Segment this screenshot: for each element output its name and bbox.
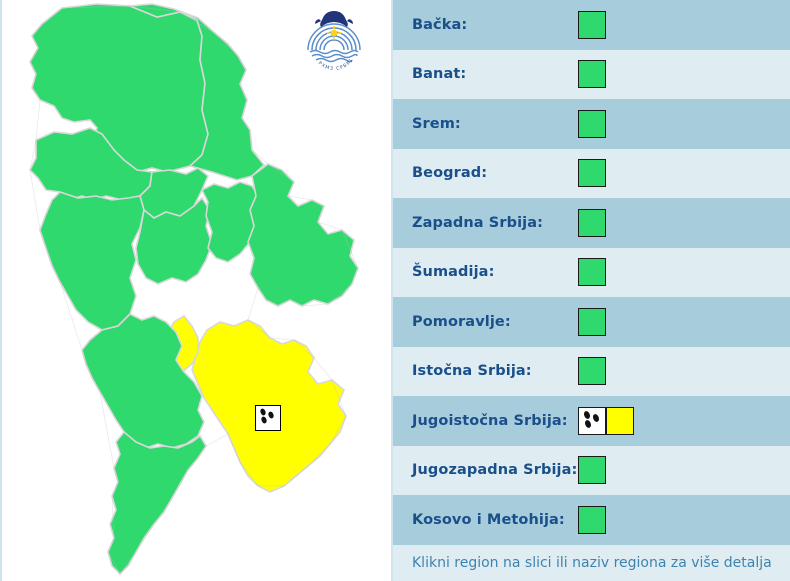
legend-row-sumadija[interactable]: Šumadija: xyxy=(393,248,790,298)
legend-label: Banat: xyxy=(412,66,578,82)
rhmz-logo-icon: РХМЗ СРБИЈЕ xyxy=(302,4,366,70)
serbia-region-map[interactable] xyxy=(2,0,391,581)
legend-swatches xyxy=(578,60,606,88)
legend-row-jugoistocna-srbija[interactable]: Jugoistočna Srbija: xyxy=(393,396,790,446)
map-region-zapadna-srbija[interactable] xyxy=(40,192,144,330)
map-panel: РХМЗ СРБИЈЕ xyxy=(0,0,393,581)
legend-label: Pomoravlje: xyxy=(412,314,578,330)
legend-row-srem[interactable]: Srem: xyxy=(393,99,790,149)
legend-row-kosovo-i-metohija[interactable]: Kosovo i Metohija: xyxy=(393,495,790,545)
legend-row-zapadna-srbija[interactable]: Zapadna Srbija: xyxy=(393,198,790,248)
legend-swatches xyxy=(578,506,606,534)
legend-row-beograd[interactable]: Beograd: xyxy=(393,149,790,199)
legend-swatches xyxy=(578,407,634,435)
legend-label: Istočna Srbija: xyxy=(412,363,578,379)
legend-row-istocna-srbija[interactable]: Istočna Srbija: xyxy=(393,347,790,397)
legend-swatches xyxy=(578,11,606,39)
legend-swatches xyxy=(578,110,606,138)
legend-panel: Bačka: Banat: Srem: Beograd: Zapadna Srb xyxy=(393,0,790,581)
status-swatch-green xyxy=(578,506,606,534)
legend-swatches xyxy=(578,308,606,336)
status-swatch-green xyxy=(578,258,606,286)
rain-icon xyxy=(579,408,604,433)
status-swatch-green xyxy=(578,456,606,484)
legend-row-backa[interactable]: Bačka: xyxy=(393,0,790,50)
legend-label: Jugoistočna Srbija: xyxy=(412,413,578,429)
legend-swatches xyxy=(578,357,606,385)
status-swatch-green xyxy=(578,357,606,385)
legend-label: Šumadija: xyxy=(412,264,578,280)
map-region-istocna-srbija[interactable] xyxy=(248,164,358,306)
status-swatch-green xyxy=(578,209,606,237)
status-swatch-yellow xyxy=(606,407,634,435)
status-swatch-green xyxy=(578,60,606,88)
warning-map-widget: РХМЗ СРБИЈЕ Bačka: Banat: Srem: Beogr xyxy=(0,0,790,581)
legend-label: Kosovo i Metohija: xyxy=(412,512,578,528)
legend-swatches xyxy=(578,456,606,484)
status-swatch-green xyxy=(578,159,606,187)
rhmz-srbije-logo[interactable]: РХМЗ СРБИЈЕ xyxy=(302,4,366,70)
legend-swatches xyxy=(578,209,606,237)
status-swatch-green xyxy=(578,110,606,138)
legend-label: Zapadna Srbija: xyxy=(412,215,578,231)
map-region-kosovo-i-metohija[interactable] xyxy=(108,432,206,574)
legend-label: Beograd: xyxy=(412,165,578,181)
map-marker-rain-icon[interactable] xyxy=(255,405,281,431)
legend-swatches xyxy=(578,159,606,187)
legend-row-banat[interactable]: Banat: xyxy=(393,50,790,100)
status-swatch-green xyxy=(578,11,606,39)
legend-swatches xyxy=(578,258,606,286)
status-swatch-rain-icon xyxy=(578,407,606,435)
status-swatch-green xyxy=(578,308,606,336)
legend-label: Srem: xyxy=(412,116,578,132)
legend-row-pomoravlje[interactable]: Pomoravlje: xyxy=(393,297,790,347)
legend-label: Bačka: xyxy=(412,17,578,33)
legend-label: Jugozapadna Srbija: xyxy=(412,462,578,478)
legend-footer: Klikni region na slici ili naziv regiona… xyxy=(393,545,790,581)
legend-row-jugozapadna-srbija[interactable]: Jugozapadna Srbija: xyxy=(393,446,790,496)
legend-footer-text: Klikni region na slici ili naziv regiona… xyxy=(412,555,772,571)
rain-icon xyxy=(256,406,278,428)
